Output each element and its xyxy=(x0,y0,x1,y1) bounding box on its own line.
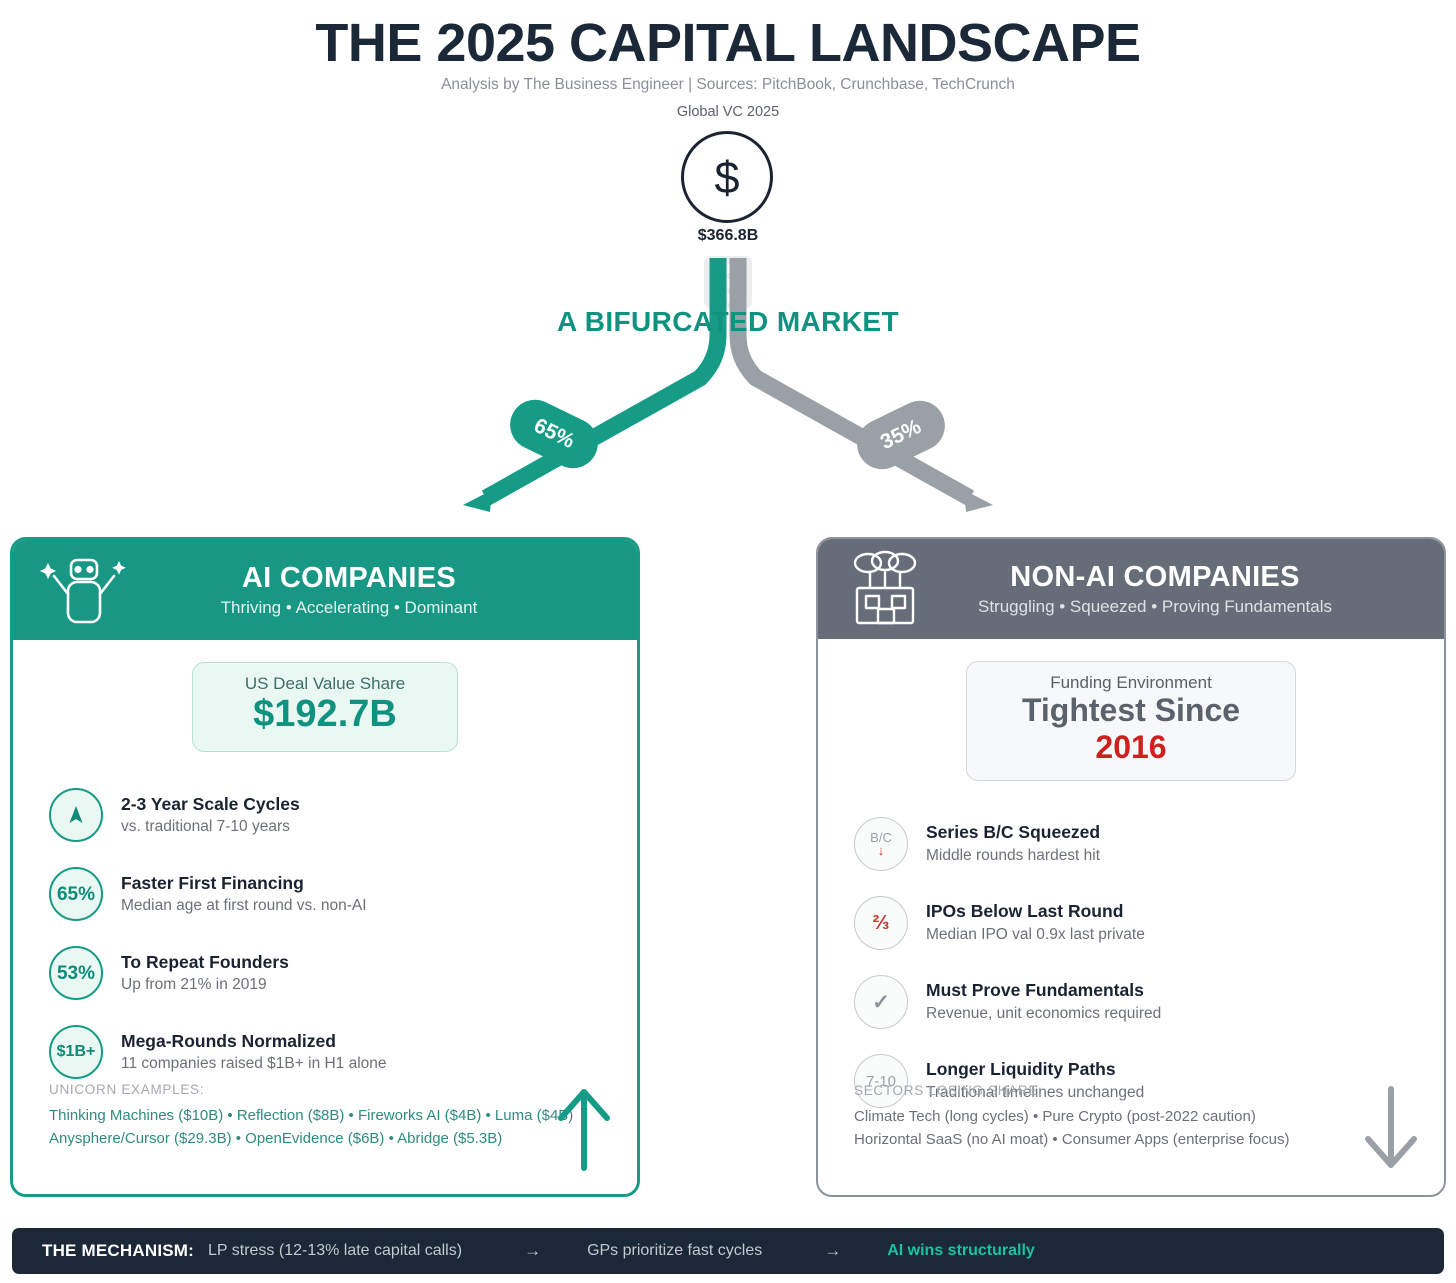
sectors-losing-share-label: SECTORS LOSING SHARE: xyxy=(854,1083,1420,1098)
source-label: Global VC 2025 xyxy=(0,104,1456,120)
stat-icon-sublabel: ↓ xyxy=(878,844,885,857)
two-thirds-fraction-icon: ⅔ xyxy=(854,896,908,950)
unicorn-examples-label: UNICORN EXAMPLES: xyxy=(49,1082,613,1097)
stat-icon-label: 65% xyxy=(57,885,95,904)
dollar-sign-icon: $ xyxy=(681,131,773,223)
nonai-metric-box: Funding Environment Tightest Since 2016 xyxy=(966,661,1296,781)
nonai-card-header: NON-AI COMPANIES Struggling • Squeezed •… xyxy=(818,539,1444,639)
mechanism-step-3: AI wins structurally xyxy=(887,1242,1035,1260)
nonai-card-footer: SECTORS LOSING SHARE: Climate Tech (long… xyxy=(854,1083,1420,1152)
infographic-root: THE 2025 CAPITAL LANDSCAPE Analysis by T… xyxy=(0,0,1456,1283)
ai-metric-value: $192.7B xyxy=(219,693,431,737)
stat-desc: Median IPO val 0.9x last private xyxy=(926,925,1145,944)
nonai-card-title: NON-AI COMPANIES xyxy=(936,561,1374,594)
ai-metric-box: US Deal Value Share $192.7B xyxy=(192,662,458,752)
nonai-metric-label: Funding Environment xyxy=(993,673,1269,693)
arrow-up-icon xyxy=(553,1082,615,1174)
stat-desc: Middle rounds hardest hit xyxy=(926,846,1100,865)
factory-icon xyxy=(840,549,936,629)
stat-row: 65% Faster First Financing Median age at… xyxy=(49,855,617,934)
stat-title: 2-3 Year Scale Cycles xyxy=(121,794,300,816)
stat-desc: Median age at first round vs. non-AI xyxy=(121,896,367,915)
stat-row: 2-3 Year Scale Cycles vs. traditional 7-… xyxy=(49,776,617,855)
percent-53-icon: 53% xyxy=(49,946,103,1000)
stat-icon-label: $1B+ xyxy=(57,1044,96,1060)
stat-desc: Up from 21% in 2019 xyxy=(121,975,289,994)
arrow-down-icon xyxy=(1360,1083,1422,1175)
sector-line: Horizontal SaaS (no AI moat) • Consumer … xyxy=(854,1128,1420,1151)
stat-title: Series B/C Squeezed xyxy=(926,822,1100,844)
nonai-card-subtitle: Struggling • Squeezed • Proving Fundamen… xyxy=(936,597,1374,617)
mechanism-arrow-2: → xyxy=(824,1241,841,1261)
page-subtitle: Analysis by The Business Engineer | Sour… xyxy=(0,76,1456,94)
bifurcation-flow xyxy=(0,250,1456,525)
mechanism-arrow-1: → xyxy=(524,1241,541,1261)
stat-icon-label: 53% xyxy=(57,964,95,983)
stat-row: $1B+ Mega-Rounds Normalized 11 companies… xyxy=(49,1013,617,1092)
stat-title: To Repeat Founders xyxy=(121,952,289,974)
sector-line: Climate Tech (long cycles) • Pure Crypto… xyxy=(854,1105,1420,1128)
stat-title: Must Prove Fundamentals xyxy=(926,980,1161,1002)
metric-value-prefix: Tightest Since xyxy=(1022,692,1240,728)
stat-desc: Revenue, unit economics required xyxy=(926,1004,1161,1023)
ai-stats-list: 2-3 Year Scale Cycles vs. traditional 7-… xyxy=(13,776,637,1092)
billion-plus-icon: $1B+ xyxy=(49,1025,103,1079)
bifurcation-title: A BIFURCATED MARKET xyxy=(0,306,1456,338)
nonai-companies-card: NON-AI COMPANIES Struggling • Squeezed •… xyxy=(816,537,1446,1197)
stat-title: Faster First Financing xyxy=(121,873,367,895)
stat-desc: 11 companies raised $1B+ in H1 alone xyxy=(121,1054,387,1073)
ai-card-footer: UNICORN EXAMPLES: Thinking Machines ($10… xyxy=(49,1082,613,1151)
stat-title: Longer Liquidity Paths xyxy=(926,1059,1144,1081)
ai-card-subtitle: Thriving • Accelerating • Dominant xyxy=(131,598,567,618)
source-amount: $366.8B xyxy=(0,227,1456,245)
stat-row: B/C ↓ Series B/C Squeezed Middle rounds … xyxy=(854,805,1424,884)
stat-title: IPOs Below Last Round xyxy=(926,901,1145,923)
stat-row: ⅔ IPOs Below Last Round Median IPO val 0… xyxy=(854,884,1424,963)
stat-icon-label: ⅔ xyxy=(873,913,890,933)
stat-row: ✓ Must Prove Fundamentals Revenue, unit … xyxy=(854,963,1424,1042)
mechanism-step-2: GPs prioritize fast cycles xyxy=(587,1242,762,1260)
mechanism-label: THE MECHANISM: xyxy=(42,1241,194,1261)
ai-card-title: AI COMPANIES xyxy=(131,562,567,595)
nonai-metric-value: Tightest Since 2016 xyxy=(993,692,1269,766)
mechanism-bar: THE MECHANISM: LP stress (12-13% late ca… xyxy=(12,1228,1444,1274)
stat-icon-label: ✓ xyxy=(872,992,890,1013)
checkmark-icon: ✓ xyxy=(854,975,908,1029)
robot-icon xyxy=(35,550,131,630)
page-title: THE 2025 CAPITAL LANDSCAPE xyxy=(0,12,1456,74)
unicorn-line: Thinking Machines ($10B) • Reflection ($… xyxy=(49,1104,613,1127)
ai-metric-label: US Deal Value Share xyxy=(219,674,431,694)
percent-65-icon: 65% xyxy=(49,867,103,921)
ai-companies-card: AI COMPANIES Thriving • Accelerating • D… xyxy=(10,537,640,1197)
nonai-stats-list: B/C ↓ Series B/C Squeezed Middle rounds … xyxy=(818,805,1444,1121)
unicorn-line: Anysphere/Cursor ($29.3B) • OpenEvidence… xyxy=(49,1127,613,1150)
series-bc-down-icon: B/C ↓ xyxy=(854,817,908,871)
mechanism-step-1: LP stress (12-13% late capital calls) xyxy=(208,1242,462,1260)
stat-title: Mega-Rounds Normalized xyxy=(121,1031,387,1053)
ai-card-header: AI COMPANIES Thriving • Accelerating • D… xyxy=(13,540,637,640)
stat-desc: vs. traditional 7-10 years xyxy=(121,817,300,836)
navigation-arrow-icon xyxy=(49,788,103,842)
stat-row: 53% To Repeat Founders Up from 21% in 20… xyxy=(49,934,617,1013)
metric-value-highlight: 2016 xyxy=(1095,729,1166,765)
